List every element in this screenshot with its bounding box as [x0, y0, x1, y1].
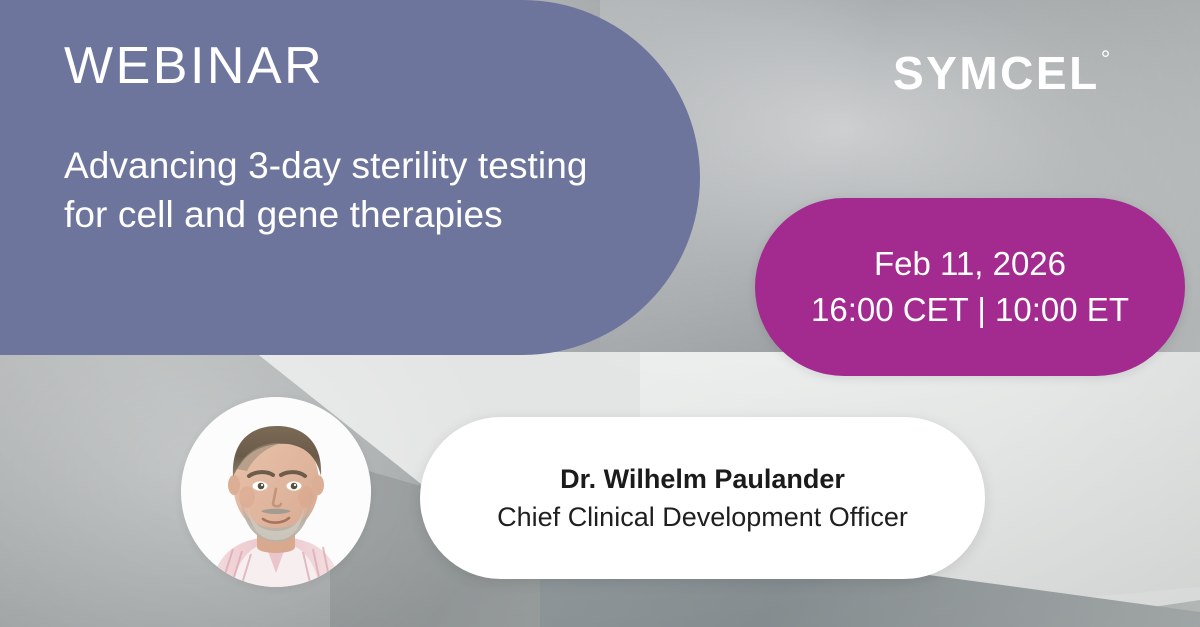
speaker-role: Chief Clinical Development Officer: [497, 498, 908, 536]
speaker-avatar-illustration: [181, 397, 371, 587]
speaker-card: Dr. Wilhelm Paulander Chief Clinical Dev…: [420, 417, 985, 579]
degree-mark-icon: °: [1101, 46, 1111, 73]
headline-block: WEBINAR Advancing 3-day sterility testin…: [64, 0, 624, 355]
symcel-logo: SYMCEL°: [893, 50, 1109, 96]
event-date-pill: Feb 11, 2026 16:00 CET | 10:00 ET: [755, 198, 1185, 376]
event-date: Feb 11, 2026: [874, 241, 1066, 287]
speaker-name: Dr. Wilhelm Paulander: [560, 460, 845, 498]
speaker-avatar: [181, 397, 371, 587]
webinar-title: Advancing 3-day sterility testing for ce…: [64, 141, 594, 239]
symcel-logo-text: SYMCEL: [893, 47, 1100, 99]
event-time: 16:00 CET | 10:00 ET: [811, 287, 1129, 333]
webinar-promo-banner: WEBINAR Advancing 3-day sterility testin…: [0, 0, 1200, 627]
webinar-kicker: WEBINAR: [64, 40, 324, 92]
